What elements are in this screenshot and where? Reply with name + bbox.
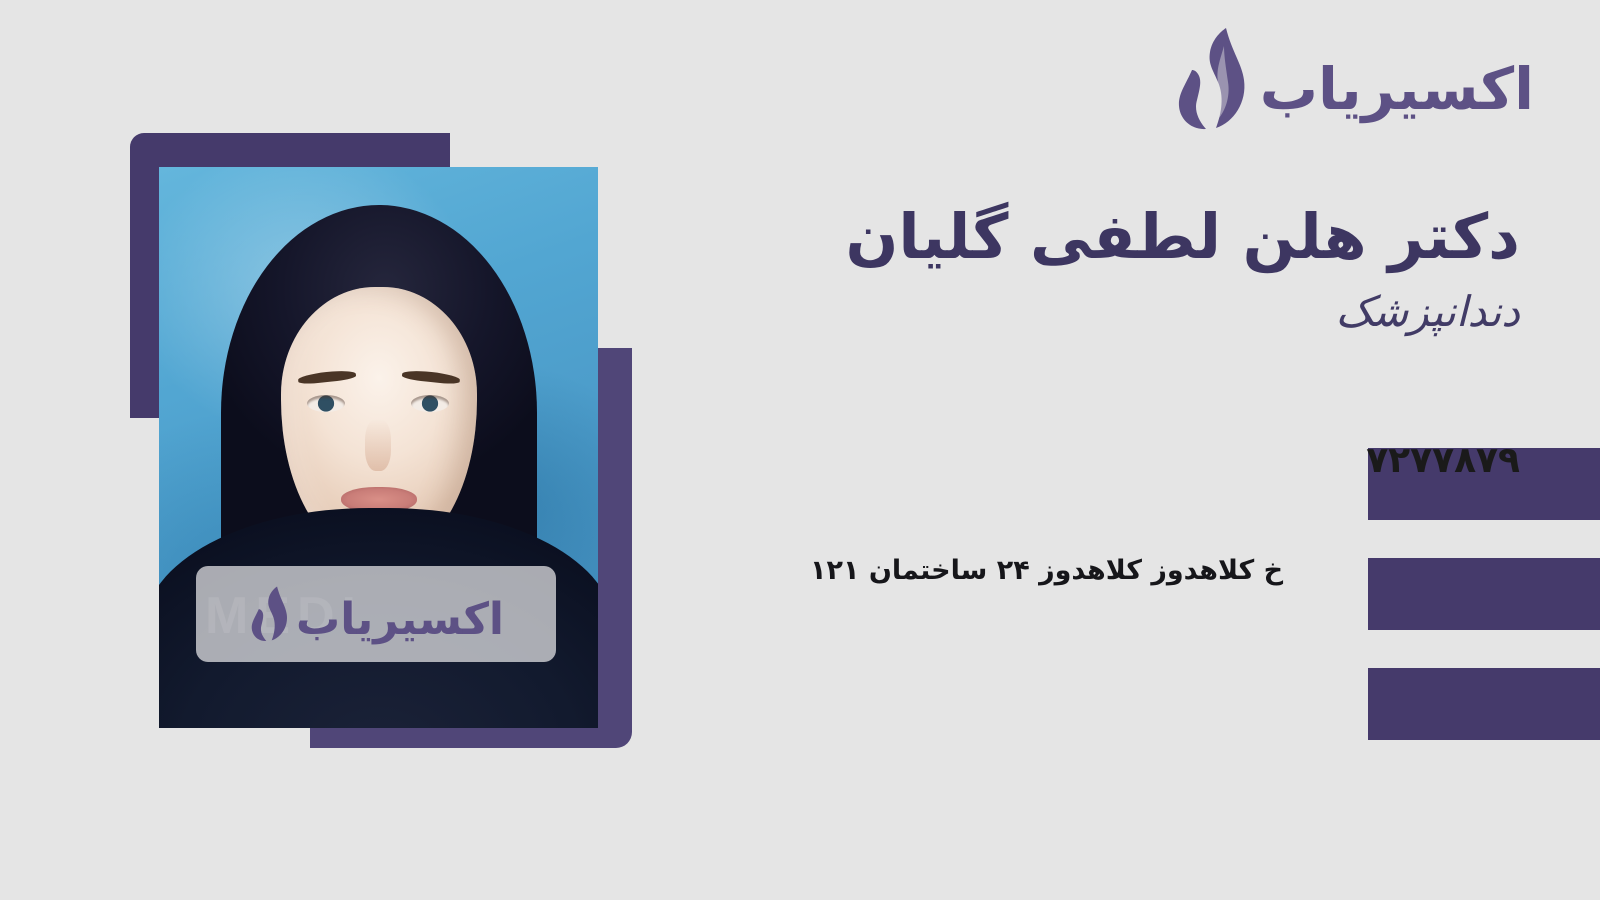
phone-row: ۷۲۷۷۸۷۹ (760, 440, 1520, 481)
brand-logo[interactable]: اکسیریاب (1172, 26, 1534, 132)
photo-composition: MEDI اکسیریاب (130, 133, 632, 748)
profile-card: اکسیریاب MEDI اک (0, 0, 1600, 900)
portrait-eye-right (411, 395, 449, 412)
photo-watermark-badge: اکسیریاب (196, 566, 556, 662)
flame-droplet-icon (248, 585, 290, 643)
brand-wordmark: اکسیریاب (1260, 60, 1534, 118)
doctor-name: دکتر هلن لطفی گلیان (800, 200, 1520, 273)
doctor-photo: MEDI اکسیریاب (159, 167, 598, 728)
portrait-nose (365, 419, 391, 471)
doctor-info: دکتر هلن لطفی گلیان دندانپزشک (800, 200, 1520, 338)
doctor-address: خ کلاهدوز کلاهدوز ۲۴ ساختمان ۱۲۱ (760, 555, 1520, 586)
doctor-phone[interactable]: ۷۲۷۷۸۷۹ (1306, 440, 1520, 481)
portrait-eye-left (307, 395, 345, 412)
flame-droplet-icon (1172, 26, 1250, 132)
decor-bar-3 (1368, 668, 1600, 740)
address-row: خ کلاهدوز کلاهدوز ۲۴ ساختمان ۱۲۱ (760, 555, 1520, 586)
watermark-wordmark: اکسیریاب (296, 598, 504, 642)
doctor-specialty: دندانپزشک (800, 287, 1520, 337)
